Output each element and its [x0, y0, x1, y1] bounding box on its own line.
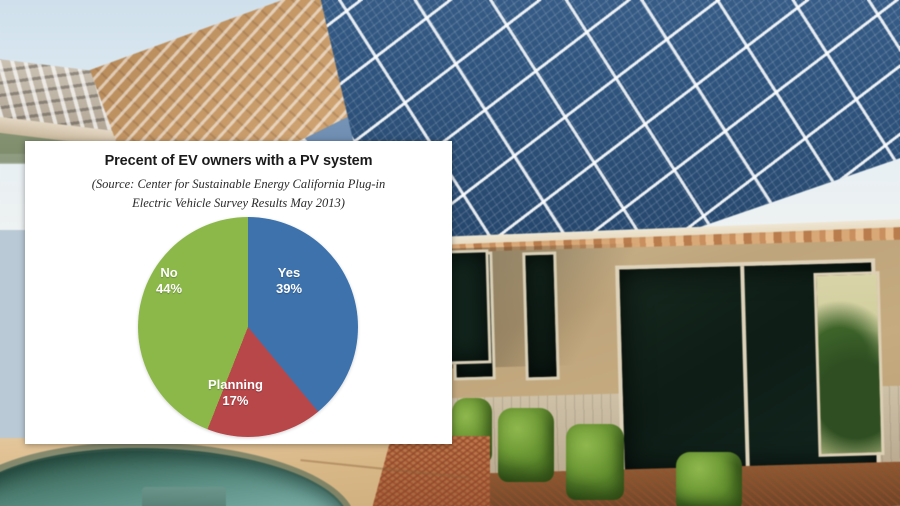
- shrub: [676, 452, 742, 506]
- pie-label-planning-value: 17%: [208, 393, 263, 409]
- pie-label-no-value: 44%: [156, 281, 182, 297]
- chart-source-line-1: (Source: Center for Sustainable Energy C…: [51, 175, 426, 194]
- chart-source-note: (Source: Center for Sustainable Energy C…: [51, 175, 426, 214]
- pie-label-yes-text: Yes: [278, 265, 300, 280]
- pool-step: [142, 487, 226, 506]
- slide-canvas: Precent of EV owners with a PV system (S…: [0, 0, 900, 506]
- pie-label-planning: Planning 17%: [208, 377, 263, 410]
- window-mullion: [740, 266, 750, 468]
- house-window-right: [813, 271, 884, 457]
- pie-label-no-text: No: [160, 265, 177, 280]
- chart-card: Precent of EV owners with a PV system (S…: [25, 141, 452, 444]
- pie-label-planning-text: Planning: [208, 377, 263, 392]
- shrub: [566, 424, 624, 500]
- chart-title: Precent of EV owners with a PV system: [25, 153, 452, 169]
- pie-label-yes-value: 39%: [276, 281, 302, 297]
- shrub: [498, 408, 554, 482]
- house-window-narrow-mid: [522, 252, 560, 381]
- pie-label-yes: Yes 39%: [276, 265, 302, 298]
- pie-label-no: No 44%: [156, 265, 182, 298]
- chart-source-line-2: Electric Vehicle Survey Results May 2013…: [51, 194, 426, 213]
- pie-chart: Yes 39% No 44% Planning 17%: [138, 217, 358, 437]
